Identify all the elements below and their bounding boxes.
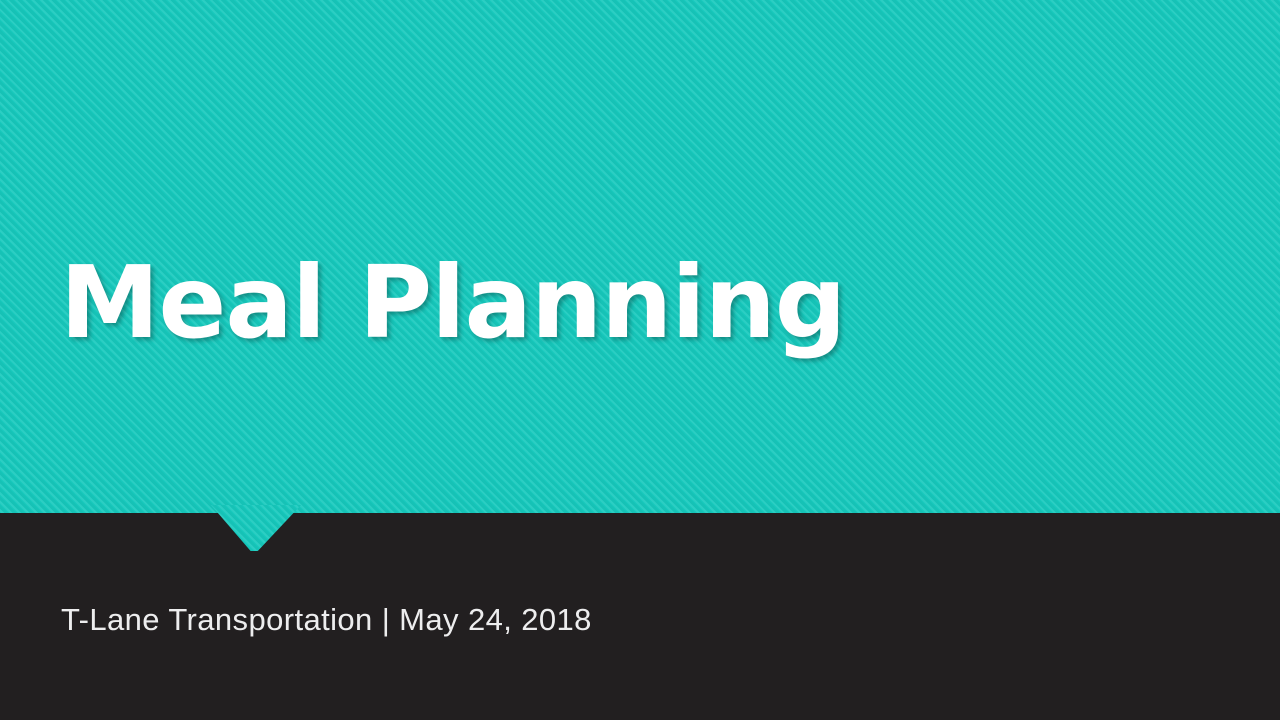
slide-subtitle: T-Lane Transportation | May 24, 2018	[61, 600, 1161, 640]
slide-title: Meal Planning	[60, 243, 1160, 363]
title-slide: Meal Planning T-Lane Transportation | Ma…	[0, 0, 1280, 720]
banner-tail-shape	[211, 505, 301, 551]
banner-tail-notch	[211, 505, 301, 551]
